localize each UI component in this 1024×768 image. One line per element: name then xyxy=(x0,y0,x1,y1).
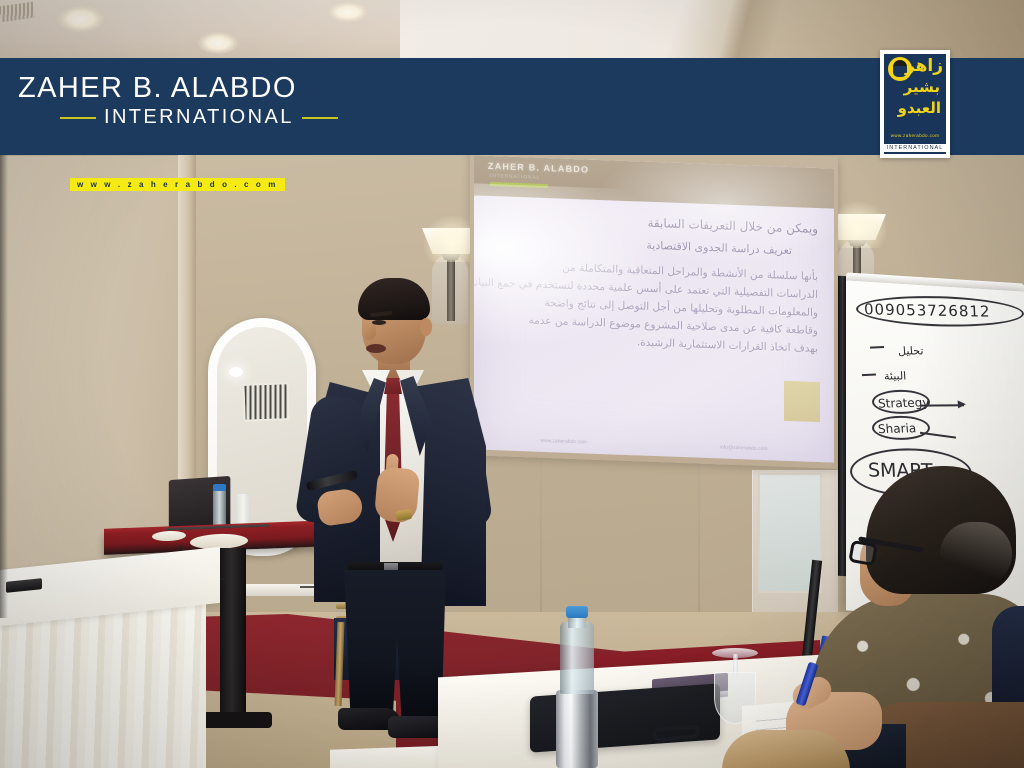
logo-website-url: www.zaherabdo.com xyxy=(884,133,946,138)
slide-corner-logo xyxy=(784,381,820,422)
presenter-tie-knot xyxy=(384,378,402,394)
eyeglasses-lens-icon xyxy=(848,540,877,566)
flipchart-word-sharia: Sharia xyxy=(877,421,916,436)
slide-brand-subtitle: INTERNATIONAL xyxy=(490,173,540,181)
logo-international-label: INTERNATIONAL xyxy=(884,144,946,152)
banner-rule-right xyxy=(302,117,338,119)
ceiling-downlight-icon xyxy=(328,2,368,22)
presenter-nose xyxy=(362,326,376,340)
brand-logo-card[interactable]: زاهر بشير العبدو www.zaherabdo.com INTER… xyxy=(880,50,950,158)
presenter-trousers xyxy=(342,570,448,716)
table-skirt xyxy=(0,604,206,768)
bottle-holder xyxy=(556,690,598,768)
attendee-hair-highlight xyxy=(940,522,1012,586)
flipchart-arabic-note: البيئة xyxy=(884,369,907,382)
banner-rule-left xyxy=(60,117,96,119)
mirror-glass xyxy=(217,327,307,547)
projection-screen: ZAHER B. ALABDO INTERNATIONAL ويمكن من خ… xyxy=(474,155,834,462)
flipchart-word-strategy: Strategy xyxy=(877,395,929,410)
flipchart-arrow-icon xyxy=(920,404,964,406)
flipchart-arabic-note: تحليل xyxy=(898,344,924,357)
bottle-cap-icon xyxy=(566,606,588,618)
banner-title: ZAHER B. ALABDO xyxy=(18,72,297,105)
ceiling-downlight-icon xyxy=(58,6,104,32)
logo-arabic-line-1: زاهر xyxy=(905,58,943,75)
slide-brand-rule xyxy=(490,182,548,188)
attendee-navy-sleeve xyxy=(992,606,1024,716)
presenter-hair xyxy=(358,278,430,320)
flipchart-phone-number: 009053726812 xyxy=(864,300,991,320)
presenter-mouth xyxy=(366,344,386,353)
banner-website-url[interactable]: w w w . z a h e r a b d o . c o m xyxy=(70,178,285,191)
reflected-vent-icon xyxy=(242,382,289,422)
logo-inner: زاهر بشير العبدو www.zaherabdo.com INTER… xyxy=(884,54,946,154)
banner-subtitle-row: INTERNATIONAL xyxy=(60,106,338,129)
attendee-blonde xyxy=(722,730,850,768)
presenter-ear xyxy=(420,318,432,336)
ceiling-downlight-icon xyxy=(198,32,238,54)
screen-glare-secondary xyxy=(594,155,834,269)
water-bottle xyxy=(560,622,594,694)
logo-arabic-line-2: بشير xyxy=(904,80,940,95)
presenter-eye xyxy=(372,320,386,325)
logo-arabic-line-3: العبدو xyxy=(898,101,941,116)
mirror-highlight xyxy=(229,367,243,377)
bottle-cap-icon xyxy=(213,484,226,491)
flipchart-arrow-icon xyxy=(920,432,956,439)
banner-subtitle: INTERNATIONAL xyxy=(104,106,294,129)
flipchart-dash xyxy=(870,346,884,349)
seminar-photo-scene: ZAHER B. ALABDO INTERNATIONAL ويمكن من خ… xyxy=(0,0,1024,768)
brand-banner: ZAHER B. ALABDO INTERNATIONAL w w w . z … xyxy=(0,58,1024,155)
light-glow-icon xyxy=(830,202,886,248)
skirted-table xyxy=(0,560,220,768)
flipchart-dash xyxy=(862,374,876,377)
